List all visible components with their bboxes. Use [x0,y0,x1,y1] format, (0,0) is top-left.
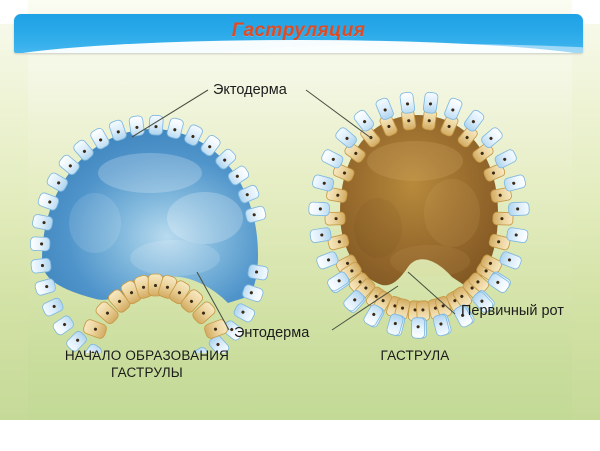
cell [411,318,424,339]
cell [499,251,523,271]
cell [375,97,395,121]
cell [247,264,268,281]
caption-left-line1: НАЧАЛО ОБРАЗОВАНИЯ [18,347,276,364]
cell [41,297,64,318]
cell [51,314,75,336]
cell [506,227,528,243]
cell [309,227,331,243]
label-ectoderm: Эктодерма [213,82,287,98]
cell [508,202,529,216]
slide: Гаструляция [0,0,600,451]
caption-left-line2: ГАСТРУЛЫ [18,364,276,381]
caption-left-figure: НАЧАЛО ОБРАЗОВАНИЯ ГАСТРУЛЫ [18,347,276,381]
cell [312,174,335,192]
cell [34,278,56,296]
caption-right-figure: ГАСТРУЛА [330,347,500,364]
cell [30,237,50,251]
cell [315,251,339,271]
cell [241,284,264,303]
cell [309,202,330,216]
cell [233,302,257,323]
cell [129,115,145,136]
cell [82,318,108,339]
cell [31,258,52,274]
right-embryo-figure [309,92,530,339]
cell-nucleus [417,325,420,328]
cell [503,174,526,192]
cell [203,318,229,339]
cell [400,92,416,114]
cell [443,97,463,121]
title-banner: Гаструляция [14,14,583,53]
cell-nucleus [154,284,157,287]
label-blastopore: Первичный рот [461,303,564,319]
label-endoderm: Энтодерма [234,325,309,341]
page-title: Гаструляция [14,14,583,53]
left-embryo-figure [30,115,269,353]
cell [423,92,439,114]
